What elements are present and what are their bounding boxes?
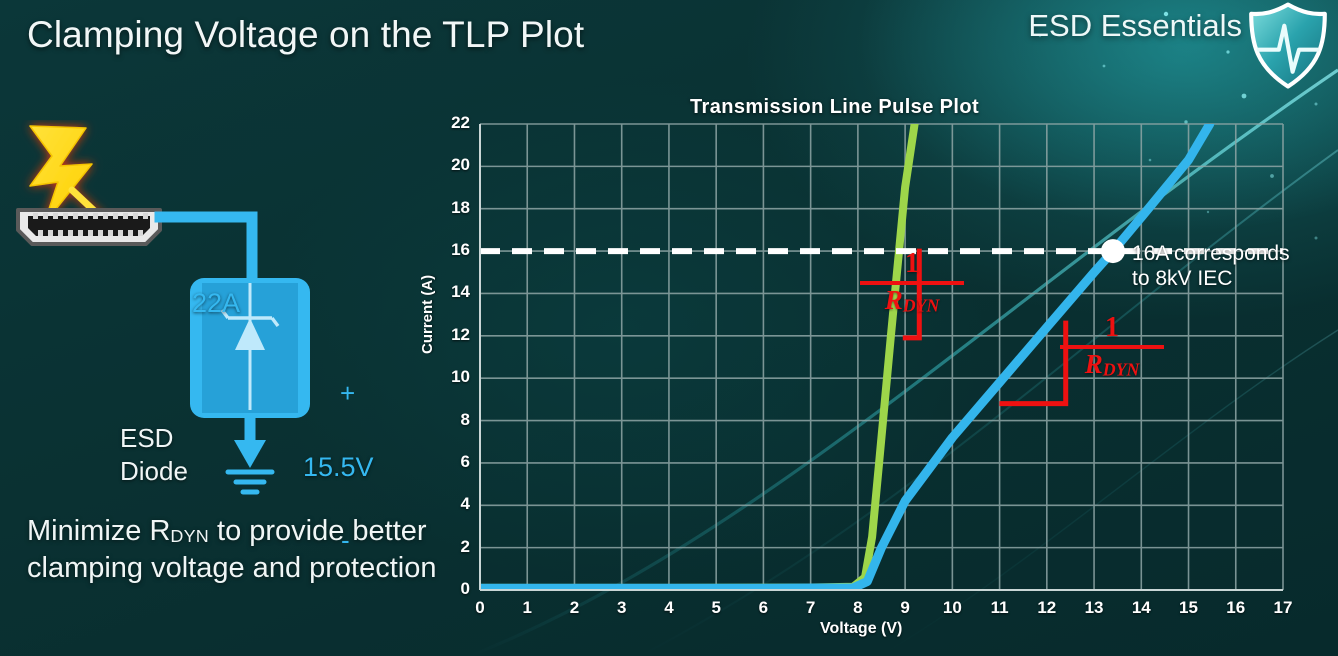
brand-title: ESD Essentials xyxy=(1028,8,1242,44)
slope-fraction-green: 1 RDYN xyxy=(860,250,964,315)
y-tick-label: 4 xyxy=(420,494,470,514)
fraction-denominator: RDYN xyxy=(860,287,964,315)
fraction-denominator-sub: DYN xyxy=(1103,360,1140,380)
x-tick-label: 4 xyxy=(654,598,684,618)
x-tick-label: 15 xyxy=(1174,598,1204,618)
clamping-point-marker xyxy=(1101,239,1125,263)
current-arrow-icon xyxy=(234,440,266,468)
x-tick-label: 10 xyxy=(937,598,967,618)
callout-line-2: to 8kV IEC xyxy=(1132,267,1290,292)
y-tick-label: 12 xyxy=(420,325,470,345)
x-tick-label: 12 xyxy=(1032,598,1062,618)
page-title: Clamping Voltage on the TLP Plot xyxy=(27,14,584,56)
x-axis-label: Voltage (V) xyxy=(820,620,902,638)
fraction-numerator: 1 xyxy=(860,250,964,280)
fraction-bar xyxy=(1060,345,1164,349)
y-tick-label: 10 xyxy=(420,367,470,387)
y-tick-label: 16 xyxy=(420,240,470,260)
y-tick-label: 22 xyxy=(420,113,470,133)
slide-canvas: Clamping Voltage on the TLP Plot ESD Ess… xyxy=(0,0,1338,656)
y-tick-label: 18 xyxy=(420,198,470,218)
y-tick-label: 2 xyxy=(420,537,470,557)
slope-fraction-blue: 1 RDYN xyxy=(1060,314,1164,379)
y-tick-label: 14 xyxy=(420,282,470,302)
clamping-voltage-label: 15.5V xyxy=(303,452,374,483)
takeaway-text: Minimize RDYN to provide better clamping… xyxy=(27,513,447,587)
fraction-denominator-base: R xyxy=(885,285,903,315)
x-tick-label: 1 xyxy=(512,598,542,618)
x-tick-label: 5 xyxy=(701,598,731,618)
takeaway-prefix: Minimize R xyxy=(27,515,170,547)
x-tick-label: 9 xyxy=(890,598,920,618)
polarity-plus-label: + xyxy=(340,378,355,409)
esd-diode-caption-line1: ESD xyxy=(120,422,188,455)
fraction-numerator: 1 xyxy=(1060,314,1164,344)
y-tick-label: 8 xyxy=(420,410,470,430)
hdmi-connector-icon xyxy=(18,210,160,244)
fraction-bar xyxy=(860,281,964,285)
callout-line-1: 16A corresponds xyxy=(1132,242,1290,267)
x-tick-label: 8 xyxy=(843,598,873,618)
fraction-denominator: RDYN xyxy=(1060,351,1164,379)
y-tick-label: 6 xyxy=(420,452,470,472)
signal-wire xyxy=(160,217,252,280)
esd-diode-caption-line2: Diode xyxy=(120,455,188,488)
y-tick-label: 20 xyxy=(420,155,470,175)
tlp-chart: Transmission Line Pulse Plot Current (A)… xyxy=(420,92,1338,656)
clamping-point-callout: 16A corresponds to 8kV IEC xyxy=(1132,242,1290,292)
x-tick-label: 11 xyxy=(985,598,1015,618)
x-tick-label: 0 xyxy=(465,598,495,618)
chart-plot-area xyxy=(420,92,1338,656)
esd-protection-circuit-diagram: 22A 15.5V + - ESD Diode xyxy=(0,120,430,500)
fraction-denominator-sub: DYN xyxy=(903,296,940,316)
x-tick-label: 3 xyxy=(607,598,637,618)
series-line-green xyxy=(480,124,915,588)
y-tick-label: 0 xyxy=(420,579,470,599)
x-tick-label: 16 xyxy=(1221,598,1251,618)
ground-symbol-icon xyxy=(228,472,272,492)
takeaway-subscript: DYN xyxy=(170,526,209,546)
x-tick-label: 7 xyxy=(796,598,826,618)
x-tick-label: 17 xyxy=(1268,598,1298,618)
chart-title: Transmission Line Pulse Plot xyxy=(690,96,979,119)
x-tick-label: 2 xyxy=(559,598,589,618)
x-tick-label: 14 xyxy=(1126,598,1156,618)
shield-heartbeat-icon xyxy=(1242,0,1334,92)
x-tick-label: 6 xyxy=(748,598,778,618)
current-label: 22A xyxy=(192,288,240,319)
fraction-denominator-base: R xyxy=(1085,349,1103,379)
x-tick-label: 13 xyxy=(1079,598,1109,618)
esd-diode-caption: ESD Diode xyxy=(120,422,188,489)
